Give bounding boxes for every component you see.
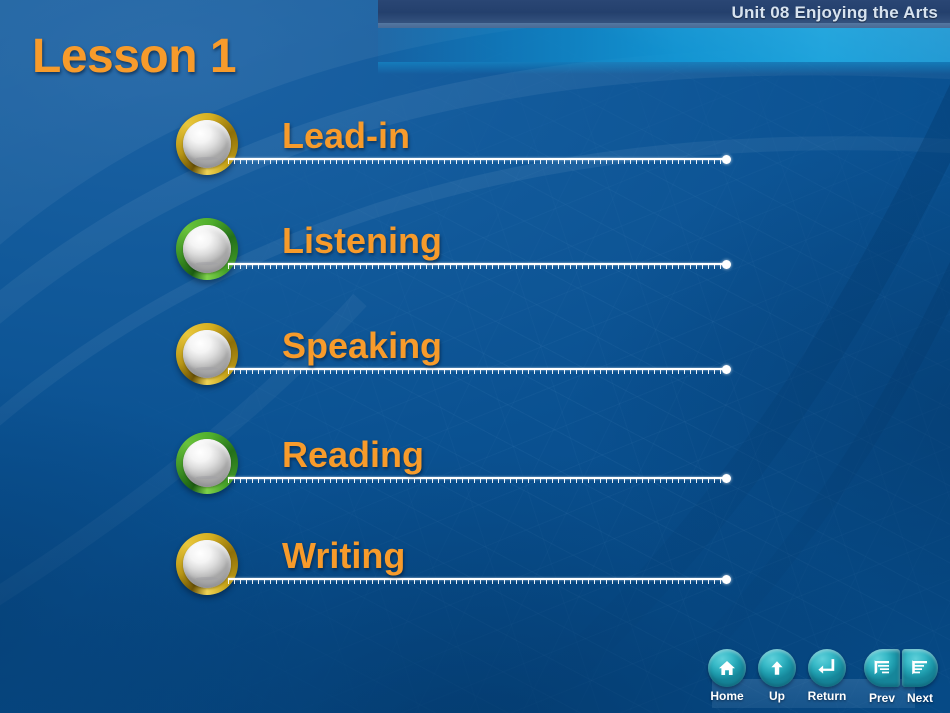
nav-button-next-label: Next xyxy=(901,691,939,705)
menu-item-label: Writing xyxy=(282,535,405,577)
bullet-inner-disc xyxy=(183,330,231,378)
rule-end-dot xyxy=(722,474,731,483)
menu-item-rule xyxy=(228,477,728,484)
menu-item-rule xyxy=(228,158,728,165)
presentation-slide: Unit 08 Enjoying the Arts Lesson 1 Lead-… xyxy=(0,0,950,713)
menu-item-label: Reading xyxy=(282,434,424,476)
rule-end-dot xyxy=(722,260,731,269)
bullet-circle-icon[interactable] xyxy=(176,432,238,494)
nav-button-return-label: Return xyxy=(808,689,847,703)
menu-item-lead-in[interactable]: Lead-in xyxy=(176,113,736,177)
nav-button-home-label: Home xyxy=(710,689,743,703)
home-button-face[interactable] xyxy=(708,649,746,687)
bullet-circle-icon[interactable] xyxy=(176,533,238,595)
bullet-inner-disc xyxy=(183,439,231,487)
rule-ticks xyxy=(228,580,728,584)
rule-ticks xyxy=(228,160,728,164)
align-right-list-icon xyxy=(872,659,892,677)
up-button-face[interactable] xyxy=(758,649,796,687)
rule-ticks xyxy=(228,370,728,374)
menu-item-rule xyxy=(228,578,728,585)
menu-item-listening[interactable]: Listening xyxy=(176,218,736,282)
nav-button-return[interactable]: Return xyxy=(807,649,847,703)
menu-item-speaking[interactable]: Speaking xyxy=(176,323,736,387)
rule-end-dot xyxy=(722,155,731,164)
rule-ticks xyxy=(228,265,728,269)
nav-button-up[interactable]: Up xyxy=(757,649,797,703)
menu-item-reading[interactable]: Reading xyxy=(176,432,736,496)
lesson-section-menu: Lead-inListeningSpeakingReadingWriting xyxy=(0,0,950,713)
nav-button-up-label: Up xyxy=(769,689,785,703)
slide-navigation-bar: Home Up Return xyxy=(707,649,939,705)
menu-item-label: Speaking xyxy=(282,325,442,367)
return-button-face[interactable] xyxy=(808,649,846,687)
nav-button-prev-label: Prev xyxy=(863,691,901,705)
bullet-inner-disc xyxy=(183,540,231,588)
bullet-circle-icon[interactable] xyxy=(176,323,238,385)
menu-item-label: Listening xyxy=(282,220,442,262)
home-icon xyxy=(717,658,737,678)
bullet-inner-disc xyxy=(183,225,231,273)
up-arrow-icon xyxy=(767,658,787,678)
bullet-circle-icon[interactable] xyxy=(176,218,238,280)
bullet-circle-icon[interactable] xyxy=(176,113,238,175)
nav-button-home[interactable]: Home xyxy=(707,649,747,703)
return-arrow-icon xyxy=(816,658,838,678)
menu-item-rule xyxy=(228,263,728,270)
rule-end-dot xyxy=(722,575,731,584)
align-left-list-icon xyxy=(910,659,930,677)
menu-item-rule xyxy=(228,368,728,375)
rule-ticks xyxy=(228,479,728,483)
menu-item-label: Lead-in xyxy=(282,115,410,157)
rule-end-dot xyxy=(722,365,731,374)
nav-prev-next-group: Prev Next xyxy=(863,649,939,705)
bullet-inner-disc xyxy=(183,120,231,168)
nav-button-prev[interactable] xyxy=(864,649,900,687)
menu-item-writing[interactable]: Writing xyxy=(176,533,736,597)
nav-button-next[interactable] xyxy=(902,649,938,687)
